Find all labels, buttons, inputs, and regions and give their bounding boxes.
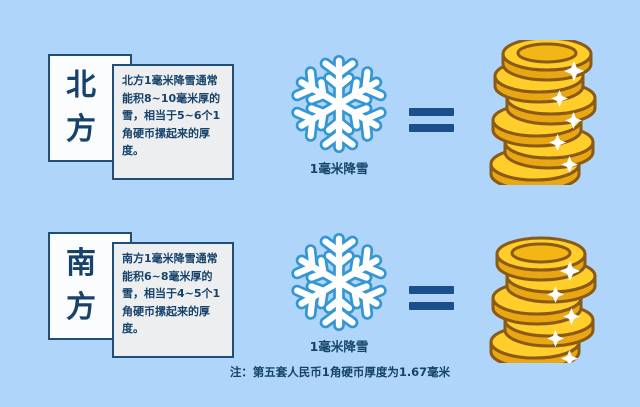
snowflake-caption-north: 1毫米降雪	[283, 158, 395, 177]
region-label-north: 北方	[58, 64, 104, 152]
equals-bar-top	[409, 108, 454, 116]
equals-bar-bottom	[409, 124, 454, 132]
coin-stack-icon-north	[483, 40, 603, 185]
snowflake-group-south: 1毫米降雪	[283, 228, 395, 363]
equals-bar-top	[409, 286, 454, 294]
infographic-canvas: 北方 北方1毫米降雪通常能积8~10毫米厚的雪，相当于5~6个1角硬币摞起来的厚…	[0, 0, 640, 407]
description-text-north: 北方1毫米降雪通常能积8~10毫米厚的雪，相当于5~6个1角硬币摞起来的厚度。	[122, 72, 226, 160]
region-label-south: 南方	[58, 242, 104, 330]
footnote-text: 注：第五套人民币1角硬币厚度为1.67毫米	[190, 364, 450, 380]
snowflake-icon	[283, 228, 395, 336]
snowflake-icon	[283, 50, 395, 158]
footnote: 注：第五套人民币1角硬币厚度为1.67毫米	[0, 364, 640, 380]
equals-icon-south	[409, 286, 454, 312]
snowflake-group-north: 1毫米降雪	[283, 50, 395, 185]
description-box-south: 南方1毫米降雪通常能积6~8毫米厚的雪，相当于4~5个1角硬币摞起来的厚度。	[112, 242, 234, 358]
section-north: 北方 北方1毫米降雪通常能积8~10毫米厚的雪，相当于5~6个1角硬币摞起来的厚…	[0, 22, 640, 197]
section-south: 南方 南方1毫米降雪通常能积6~8毫米厚的雪，相当于4~5个1角硬币摞起来的厚度…	[0, 200, 640, 375]
description-box-north: 北方1毫米降雪通常能积8~10毫米厚的雪，相当于5~6个1角硬币摞起来的厚度。	[112, 64, 234, 180]
snowflake-caption-south: 1毫米降雪	[283, 336, 395, 355]
coin-stack-icon-south	[483, 218, 603, 363]
equals-icon-north	[409, 108, 454, 134]
description-text-south: 南方1毫米降雪通常能积6~8毫米厚的雪，相当于4~5个1角硬币摞起来的厚度。	[122, 250, 226, 338]
equals-bar-bottom	[409, 302, 454, 310]
